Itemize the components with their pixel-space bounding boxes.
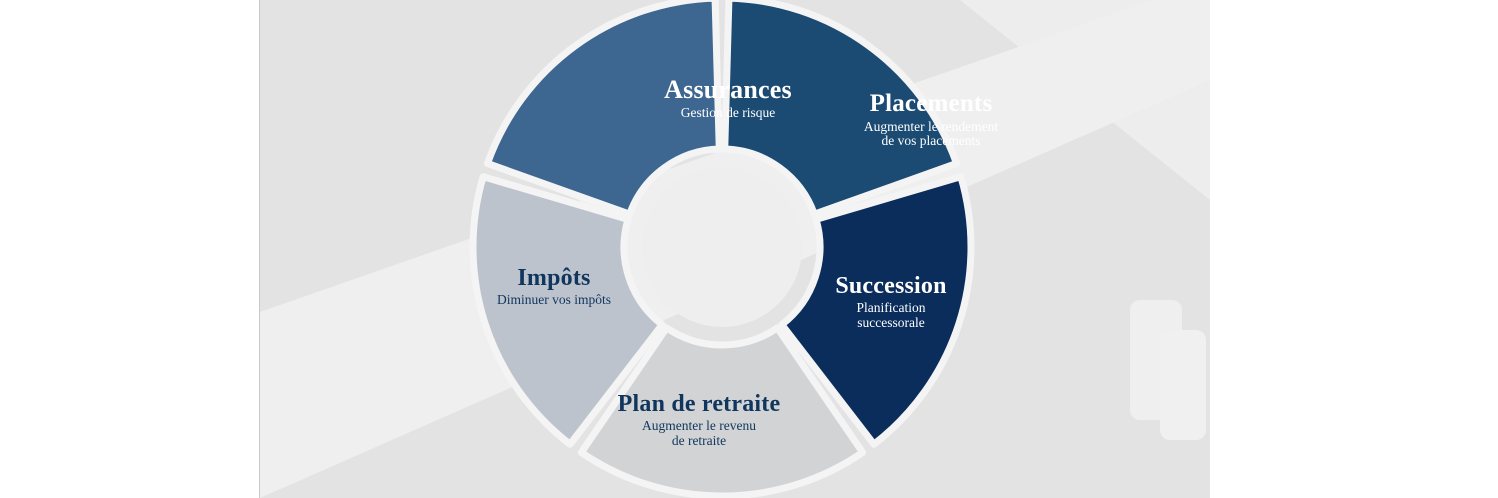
cycle-wheel: Assurances Gestion de risque Placements …	[259, 0, 1210, 498]
screenshot-root: Assurances Gestion de risque Placements …	[0, 0, 1498, 498]
donut-center-hole	[642, 167, 802, 327]
donut-svg	[259, 0, 1210, 498]
